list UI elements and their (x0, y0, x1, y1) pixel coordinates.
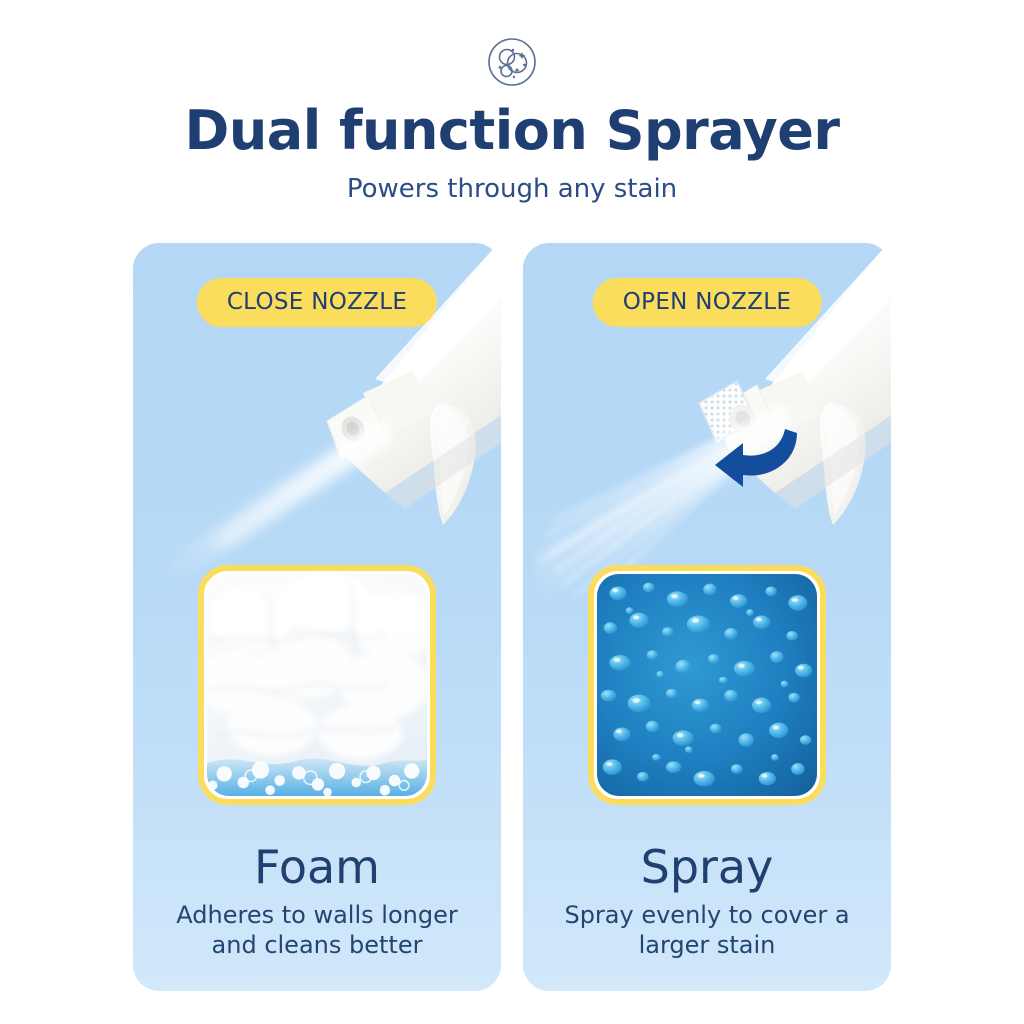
blue-water-droplets-icon (597, 574, 817, 796)
thumbnail-spray[interactable] (588, 565, 826, 805)
badge-open-nozzle: OPEN NOZZLE (593, 278, 822, 327)
panel-close-nozzle-foam: CLOSE NOZZLE (133, 243, 501, 991)
rotate-left-arrow-icon (713, 421, 803, 493)
feature-panels: CLOSE NOZZLE (0, 243, 1024, 993)
caption-spray: Spray Spray evenly to cover a larger sta… (523, 843, 891, 960)
panel-open-nozzle-spray: OPEN NOZZLE (523, 243, 891, 991)
caption-title-spray: Spray (523, 843, 891, 891)
caption-desc-foam: Adheres to walls longer and cleans bette… (133, 901, 501, 960)
caption-title-foam: Foam (133, 843, 501, 891)
white-foam-texture-icon (207, 574, 427, 796)
page-subtitle: Powers through any stain (0, 176, 1024, 202)
page-title: Dual function Sprayer (0, 104, 1024, 160)
page-header: Dual function Sprayer Powers through any… (0, 0, 1024, 202)
thumbnail-foam[interactable] (198, 565, 436, 805)
caption-desc-spray: Spray evenly to cover a larger stain (523, 901, 891, 960)
badge-close-nozzle: CLOSE NOZZLE (197, 278, 437, 327)
bubbles-sparkle-circle-icon (484, 34, 540, 90)
caption-foam: Foam Adheres to walls longer and cleans … (133, 843, 501, 960)
